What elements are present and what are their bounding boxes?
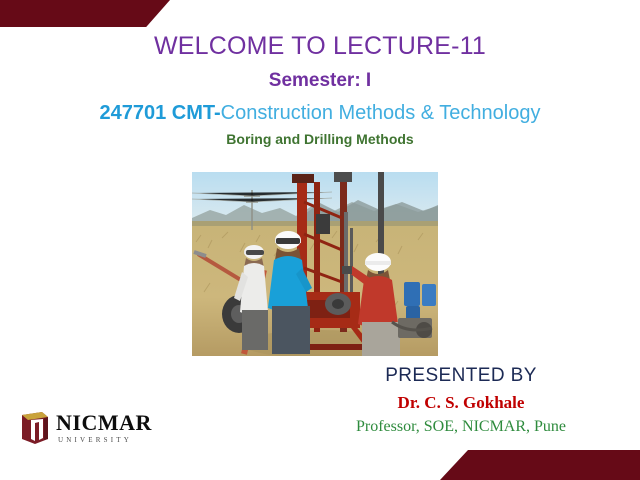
nicmar-logo: NICMAR UNIVERSITY (20, 411, 152, 445)
drilling-rig-photo (192, 172, 438, 356)
top-left-banner-decoration (0, 0, 170, 27)
course-name: Construction Methods & Technology (221, 102, 541, 124)
course-code: 247701 CMT- (100, 102, 221, 124)
presenter-block: PRESENTED BY Dr. C. S. Gokhale Professor… (296, 365, 626, 436)
nicmar-logo-icon (20, 411, 50, 445)
title-block: WELCOME TO LECTURE-11 Semester: I 247701… (0, 32, 640, 147)
presenter-role: Professor, SOE, NICMAR, Pune (296, 418, 626, 436)
page-title: WELCOME TO LECTURE-11 (0, 32, 640, 61)
lecture-topic: Boring and Drilling Methods (0, 131, 640, 147)
presenter-name: Dr. C. S. Gokhale (296, 393, 626, 413)
nicmar-logo-text: NICMAR UNIVERSITY (56, 412, 152, 444)
course-line: 247701 CMT-Construction Methods & Techno… (0, 101, 640, 125)
presented-by-label: PRESENTED BY (296, 365, 626, 387)
bottom-right-banner-decoration (440, 450, 640, 480)
nicmar-wordmark: NICMAR (56, 412, 152, 434)
semester-label: Semester: I (0, 70, 640, 92)
slide-canvas: WELCOME TO LECTURE-11 Semester: I 247701… (0, 0, 640, 480)
nicmar-university-subtext: UNIVERSITY (58, 437, 152, 444)
